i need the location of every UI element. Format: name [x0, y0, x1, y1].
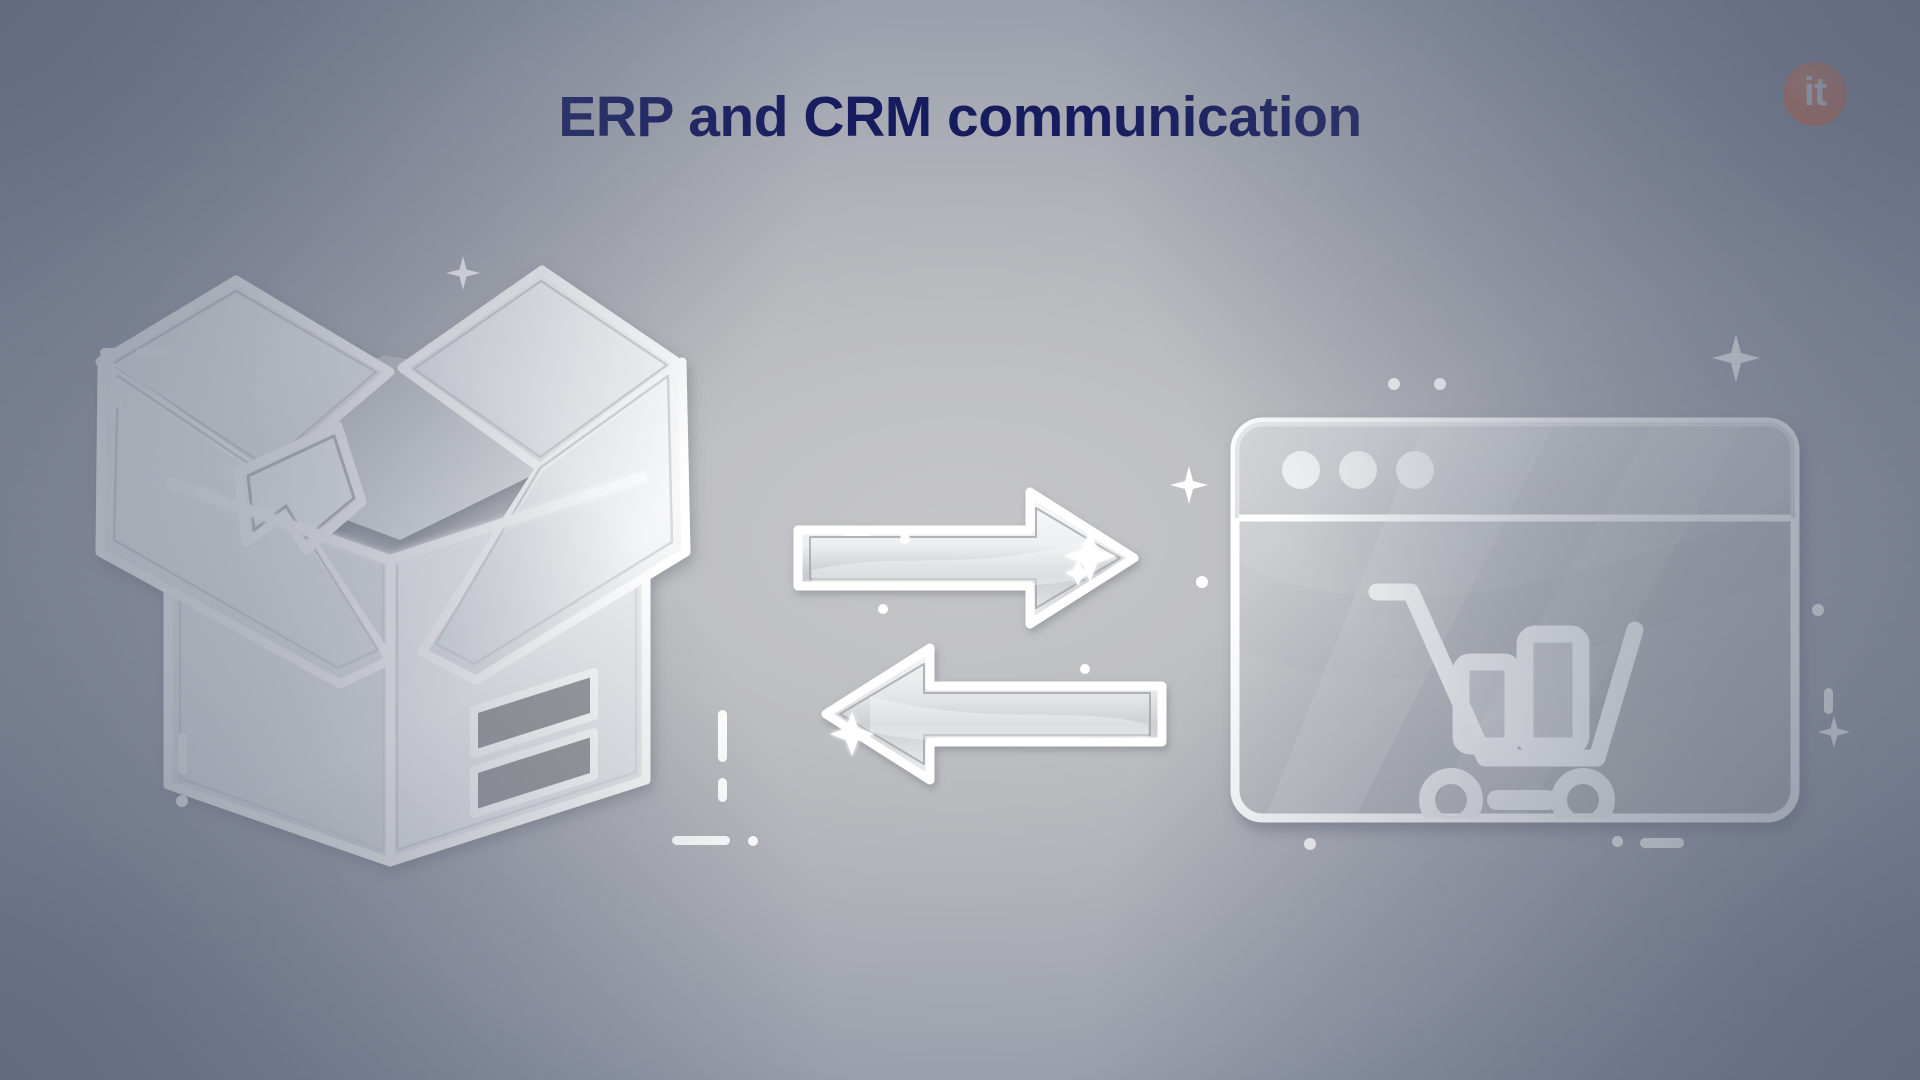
dot-mark [1612, 836, 1623, 847]
dot-mark [1812, 604, 1824, 616]
window-dot-1 [1282, 451, 1320, 489]
window-dot-2 [1339, 451, 1377, 489]
dot-mark [1196, 576, 1208, 588]
illustration-canvas: ERP and CRM communication it [0, 0, 1920, 1080]
box-group [98, 270, 686, 862]
arrow-left [826, 648, 1162, 780]
crm-browser-window[interactable] [1225, 412, 1805, 830]
window-dot-3 [1396, 451, 1434, 489]
sparkle-star [1712, 334, 1760, 382]
dash-mark [1640, 838, 1684, 848]
it-logo[interactable]: it [1783, 62, 1847, 126]
cart-axle [1487, 790, 1557, 810]
sparkle-star [1818, 716, 1850, 748]
dot-mark [1434, 378, 1446, 390]
dash-mark [1824, 688, 1833, 714]
dot-mark [1304, 838, 1316, 850]
dot-mark [1388, 378, 1400, 390]
it-logo-text: it [1804, 72, 1826, 112]
bidirectional-arrows[interactable] [790, 470, 1170, 800]
erp-open-box[interactable] [70, 240, 790, 940]
page-title: ERP and CRM communication [0, 84, 1920, 150]
browser-frame [1235, 422, 1795, 824]
sparkle-star [1170, 466, 1208, 504]
